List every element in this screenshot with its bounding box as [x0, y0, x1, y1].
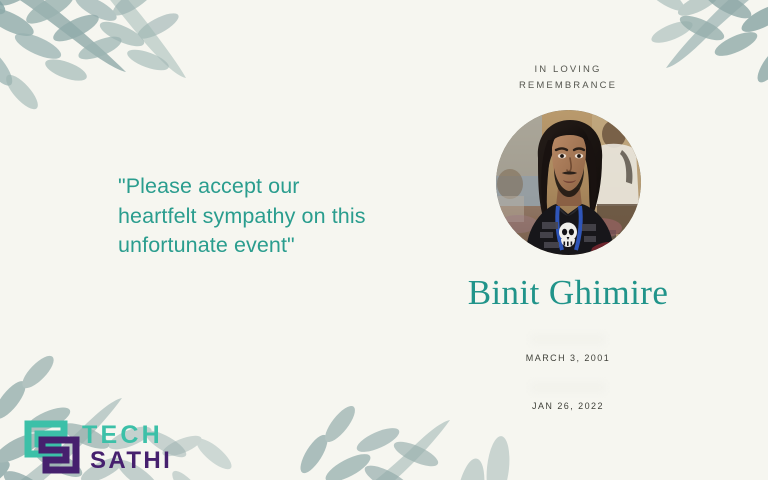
death-date-block: JAN 26, 2022 [531, 382, 605, 411]
logo-text-tech: TECH [82, 422, 186, 448]
techsathi-wordmark: TECH SATHI [82, 422, 186, 473]
memorial-details: IN LOVING REMEMBRANCE [428, 0, 708, 480]
remembrance-heading-line-1: IN LOVING [519, 62, 617, 78]
memorial-card: "Please accept our heartfelt sympathy on… [0, 0, 768, 480]
birth-date-value: MARCH 3, 2001 [526, 353, 610, 363]
birth-date-block: MARCH 3, 2001 [526, 334, 610, 363]
eucalyptus-branch-icon [0, 0, 246, 174]
birth-label-redacted [531, 334, 605, 345]
death-date-value: JAN 26, 2022 [531, 401, 605, 411]
remembrance-heading: IN LOVING REMEMBRANCE [519, 62, 617, 94]
sympathy-quote: "Please accept our heartfelt sympathy on… [118, 172, 370, 261]
remembrance-heading-line-2: REMEMBRANCE [519, 78, 617, 94]
death-label-redacted [531, 382, 605, 393]
portrait-frame [496, 110, 641, 255]
deceased-name: Binit Ghimire [468, 273, 669, 313]
logo-text-sathi: SATHI [90, 448, 186, 473]
techsathi-watermark: TECH SATHI [24, 414, 186, 476]
techsathi-monogram-icon [24, 420, 80, 474]
portrait-photo [496, 110, 641, 255]
